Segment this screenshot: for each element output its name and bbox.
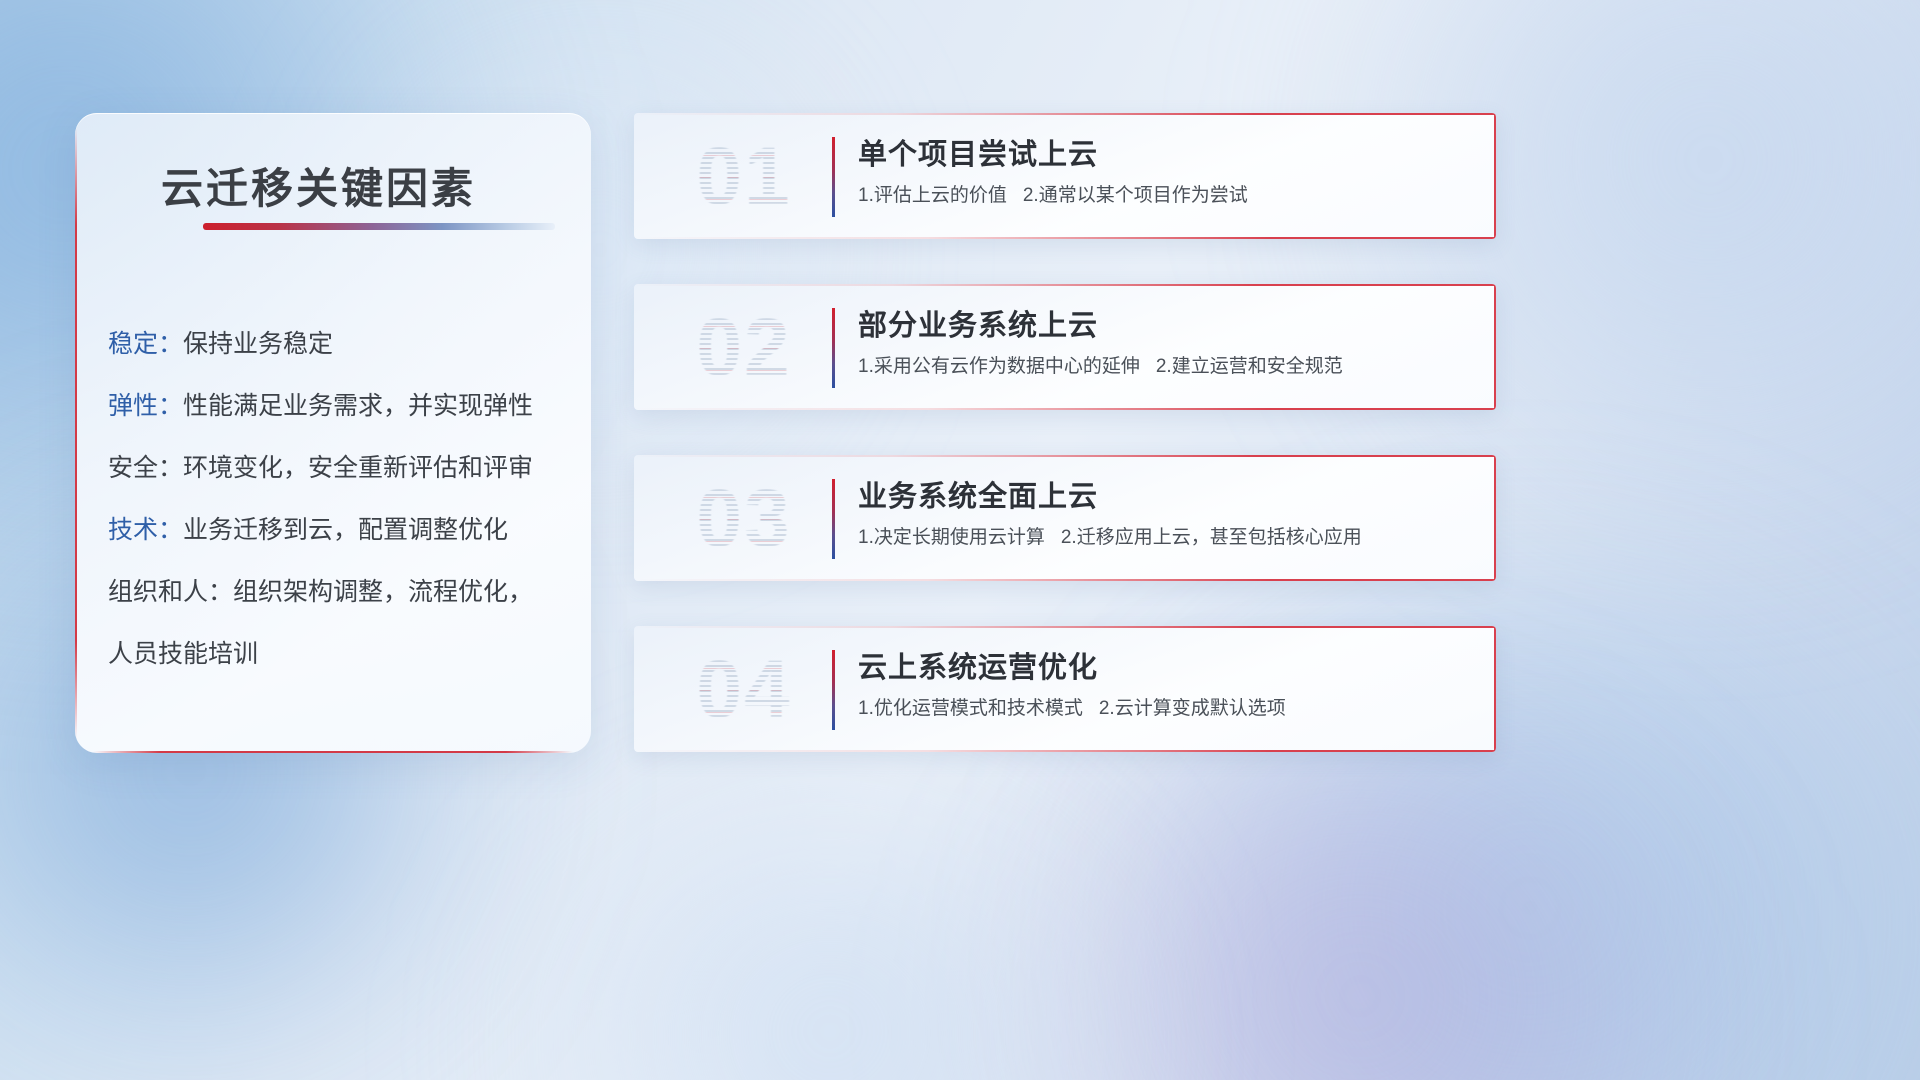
card-point-2: 2.云计算变成默认选项	[1099, 698, 1286, 719]
key-factors-list: 稳定：保持业务稳定 弹性：性能满足业务需求，并实现弹性 安全：环境变化，安全重新…	[108, 313, 567, 685]
card-point-1: 1.评估上云的价值	[858, 185, 1007, 206]
key-factors-panel: 云迁移关键因素 稳定：保持业务稳定 弹性：性能满足业务需求，并实现弹性 安全：环…	[75, 113, 591, 753]
stage-cards-list: 01 01 单个项目尝试上云 1.评估上云的价值2.通常以某个项目作为尝试 02…	[634, 113, 1496, 797]
list-item-label: 稳定：	[108, 330, 183, 358]
card-text-block: 单个项目尝试上云 1.评估上云的价值2.通常以某个项目作为尝试	[858, 133, 1470, 215]
stage-number-ghost-tint: 02	[664, 298, 824, 398]
list-item-label: 安全：	[108, 454, 183, 482]
list-item: 人员技能培训	[108, 623, 567, 685]
list-item: 弹性：性能满足业务需求，并实现弹性	[108, 375, 567, 437]
card-title: 业务系统全面上云	[858, 475, 1470, 519]
card-point-2: 2.迁移应用上云，甚至包括核心应用	[1061, 527, 1362, 548]
card-text-block: 部分业务系统上云 1.采用公有云作为数据中心的延伸2.建立运营和安全规范	[858, 304, 1470, 386]
card-point-2: 2.通常以某个项目作为尝试	[1023, 185, 1248, 206]
card-divider-bar	[832, 479, 835, 559]
stage-card-04[interactable]: 04 04 云上系统运营优化 1.优化运营模式和技术模式2.云计算变成默认选项	[634, 626, 1496, 752]
card-bottom-accent	[634, 750, 1496, 752]
card-subtitle: 1.评估上云的价值2.通常以某个项目作为尝试	[858, 177, 1470, 215]
list-item-label: 弹性：	[108, 392, 183, 420]
page-title: 云迁移关键因素	[161, 155, 476, 216]
list-item-text: 业务迁移到云，配置调整优化	[183, 516, 508, 544]
card-title: 单个项目尝试上云	[858, 133, 1470, 177]
list-item-text: 保持业务稳定	[183, 330, 333, 358]
stage-card-01[interactable]: 01 01 单个项目尝试上云 1.评估上云的价值2.通常以某个项目作为尝试	[634, 113, 1496, 239]
stage-card-02[interactable]: 02 02 部分业务系统上云 1.采用公有云作为数据中心的延伸2.建立运营和安全…	[634, 284, 1496, 410]
list-item-label: 组织和人：	[108, 578, 233, 606]
list-item: 稳定：保持业务稳定	[108, 313, 567, 375]
card-subtitle: 1.采用公有云作为数据中心的延伸2.建立运营和安全规范	[858, 348, 1470, 386]
card-text-block: 业务系统全面上云 1.决定长期使用云计算2.迁移应用上云，甚至包括核心应用	[858, 475, 1470, 557]
stage-number-ghost-tint: 03	[664, 469, 824, 569]
card-divider-bar	[832, 137, 835, 217]
list-item-text: 人员技能培训	[108, 640, 258, 668]
list-item-label: 技术：	[108, 516, 183, 544]
card-title: 云上系统运营优化	[858, 646, 1470, 690]
card-point-1: 1.采用公有云作为数据中心的延伸	[858, 356, 1140, 377]
card-point-2: 2.建立运营和安全规范	[1156, 356, 1343, 377]
stage-card-03[interactable]: 03 03 业务系统全面上云 1.决定长期使用云计算2.迁移应用上云，甚至包括核…	[634, 455, 1496, 581]
card-point-1: 1.决定长期使用云计算	[858, 527, 1045, 548]
list-item: 安全：环境变化，安全重新评估和评审	[108, 437, 567, 499]
card-bottom-accent	[634, 408, 1496, 410]
card-title: 部分业务系统上云	[858, 304, 1470, 348]
card-bottom-accent	[634, 237, 1496, 239]
card-bottom-accent	[634, 579, 1496, 581]
list-item-text: 性能满足业务需求，并实现弹性	[183, 392, 533, 420]
stage-number-ghost-tint: 04	[664, 640, 824, 740]
title-underline-rule	[203, 223, 555, 230]
card-divider-bar	[832, 650, 835, 730]
list-item-text: 环境变化，安全重新评估和评审	[183, 454, 533, 482]
card-divider-bar	[832, 308, 835, 388]
list-item-text: 组织架构调整，流程优化，	[233, 578, 533, 606]
card-subtitle: 1.优化运营模式和技术模式2.云计算变成默认选项	[858, 690, 1470, 728]
card-subtitle: 1.决定长期使用云计算2.迁移应用上云，甚至包括核心应用	[858, 519, 1470, 557]
stage-number-ghost-tint: 01	[664, 127, 824, 227]
card-point-1: 1.优化运营模式和技术模式	[858, 698, 1083, 719]
list-item: 技术：业务迁移到云，配置调整优化	[108, 499, 567, 561]
card-text-block: 云上系统运营优化 1.优化运营模式和技术模式2.云计算变成默认选项	[858, 646, 1470, 728]
list-item: 组织和人：组织架构调整，流程优化，	[108, 561, 567, 623]
